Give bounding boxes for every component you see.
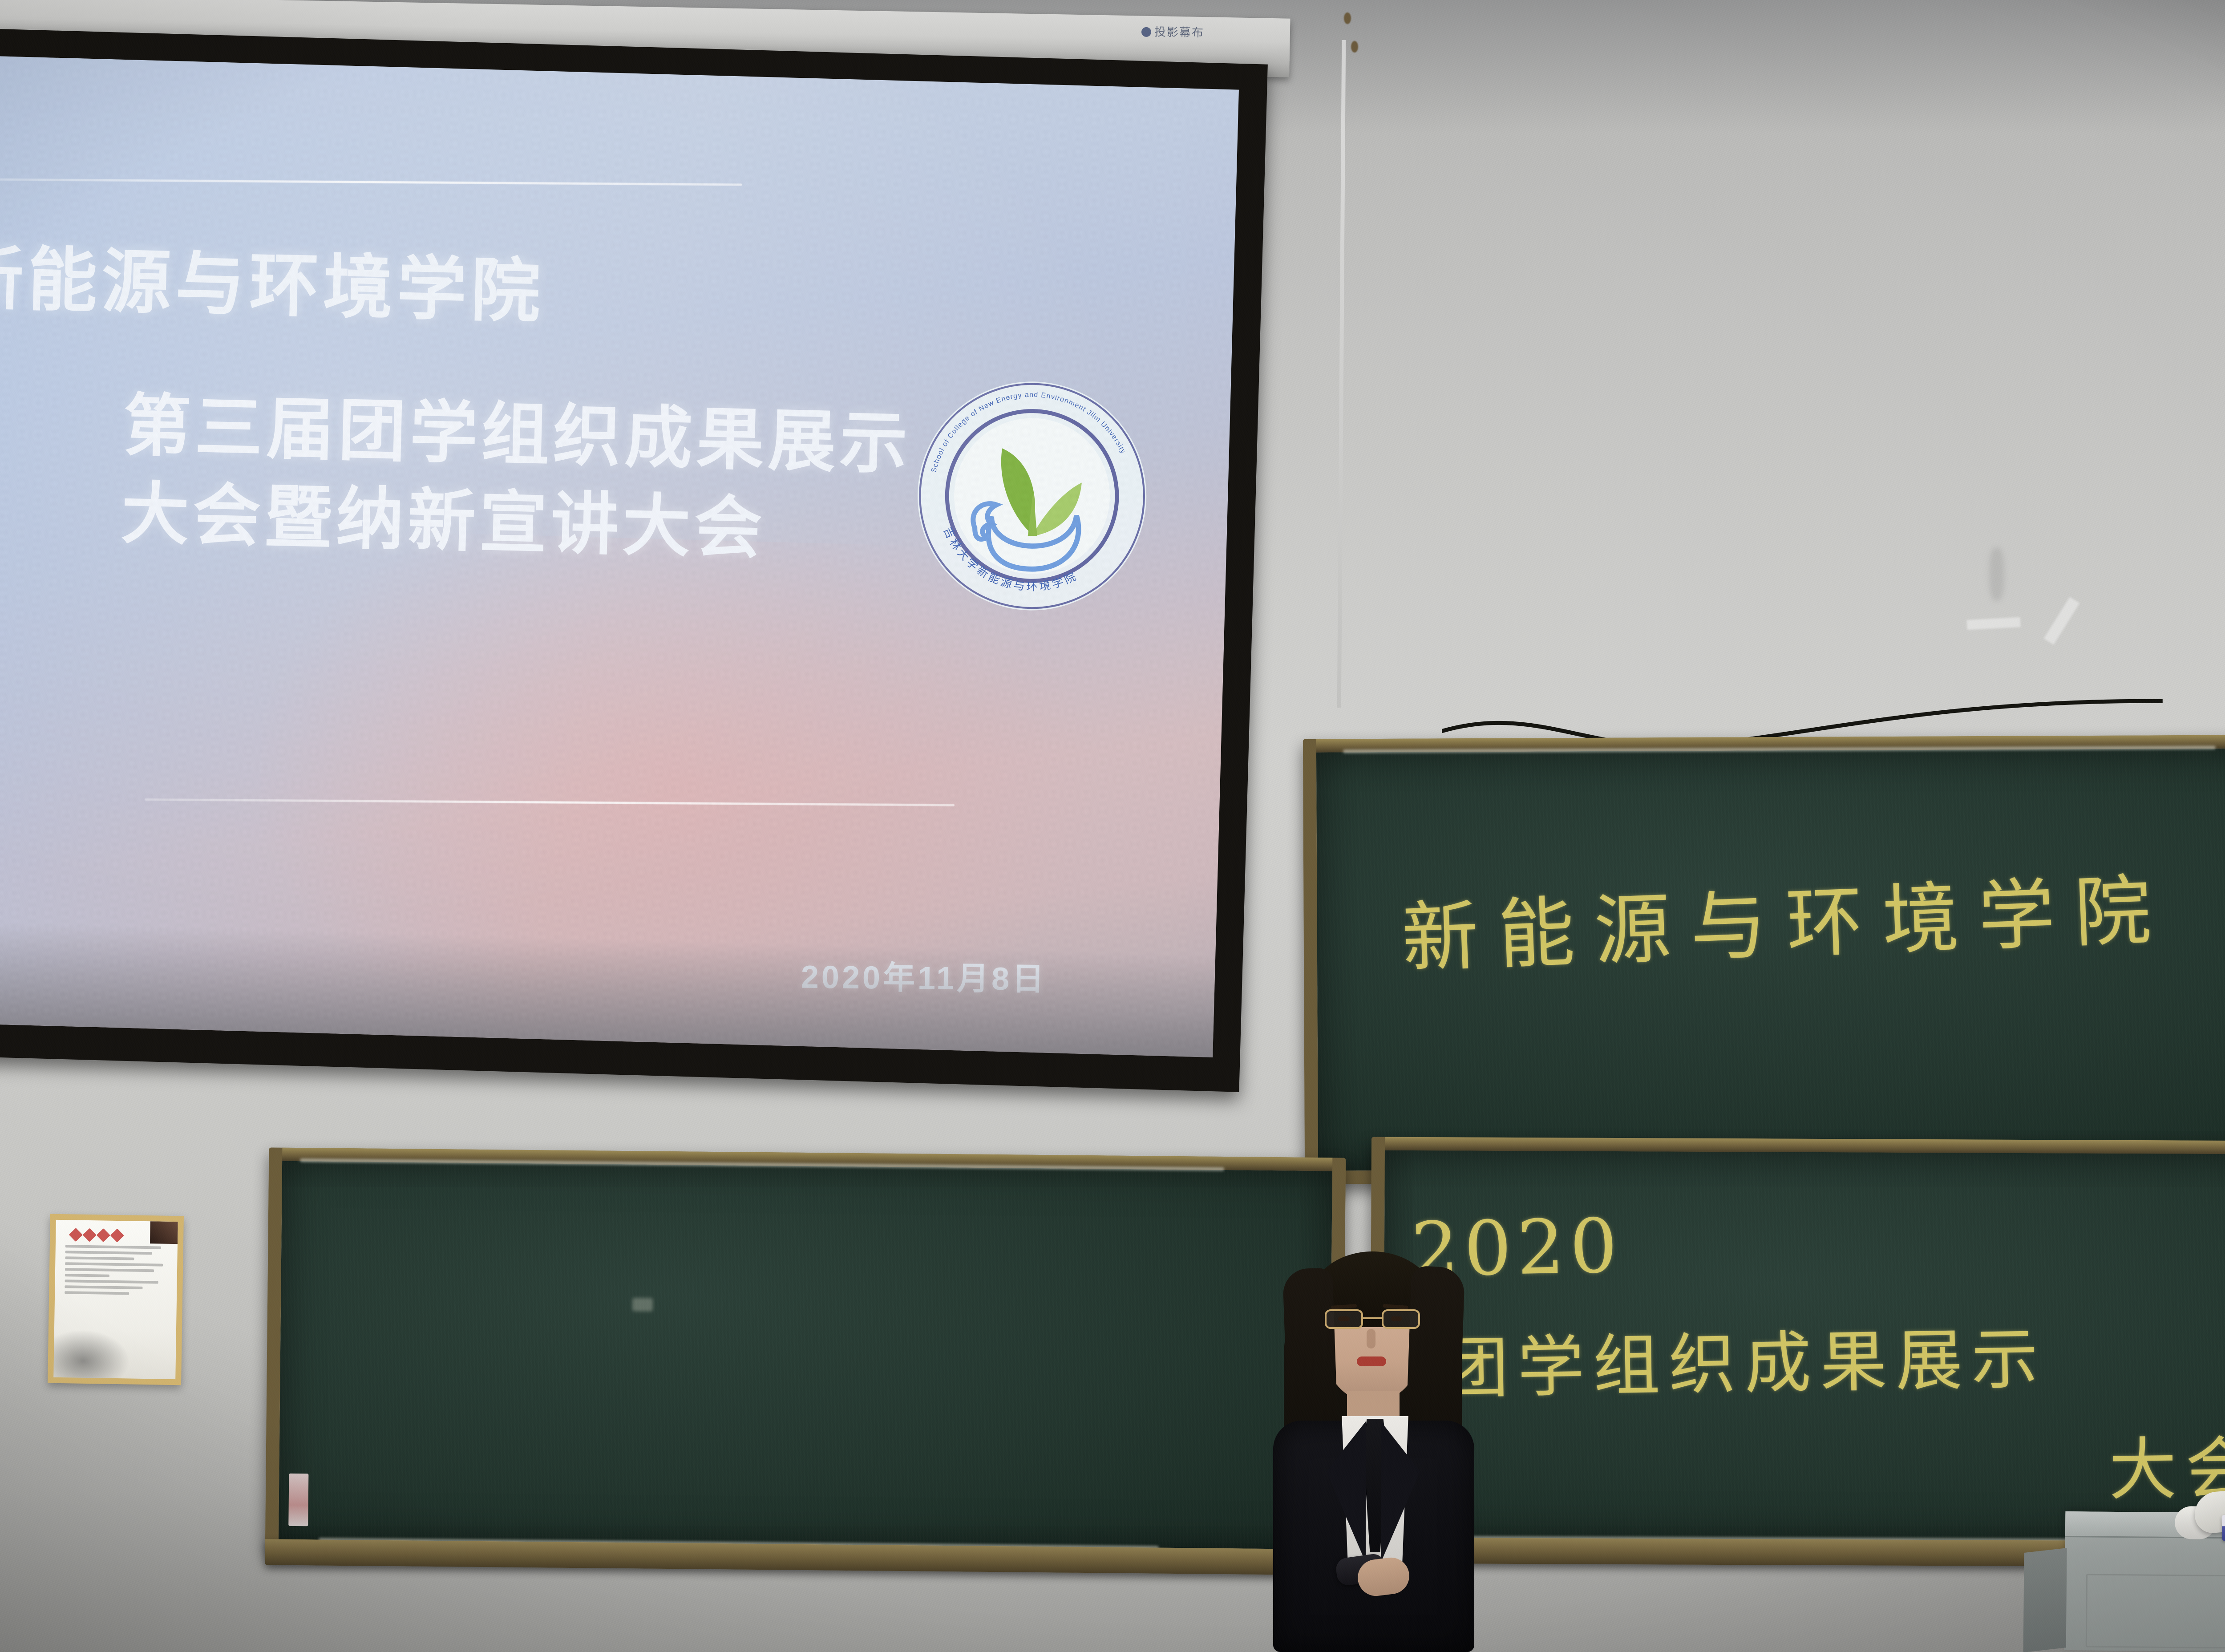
poster-diamond-icon <box>69 1228 83 1242</box>
upper-right-blackboard: 新能源与环境学院 <box>1303 734 2225 1184</box>
poster-text-line <box>65 1274 109 1277</box>
left-blackboard <box>265 1147 1346 1563</box>
glasses-bridge <box>1363 1317 1382 1319</box>
poster-text-line <box>65 1262 163 1266</box>
poster-diamond-icon <box>97 1228 110 1242</box>
presenter-eye-left <box>1338 1316 1350 1321</box>
poster-paper <box>53 1220 178 1379</box>
poster-stain <box>53 1328 132 1379</box>
wall-screw-2 <box>1351 41 1358 53</box>
presenter-nose <box>1367 1329 1375 1348</box>
chalk-eraser <box>2221 1514 2225 1541</box>
chalk-smudge <box>632 1298 653 1311</box>
poster-text-line <box>65 1285 142 1289</box>
blackboard-texture <box>279 1161 1332 1550</box>
presenter-eye-right <box>1391 1316 1402 1321</box>
slide-title-line-1: 第三届团学组织成果展示 <box>122 388 912 482</box>
poster-text-line <box>65 1268 154 1272</box>
projected-slide: 新能源与环境学院 School of College of New Energy… <box>0 56 1239 1057</box>
poster-text-line <box>65 1251 152 1255</box>
slide-organization-title: 新能源与环境学院 <box>0 221 845 343</box>
blackboard-sticker <box>288 1474 308 1526</box>
projector-screen-brand-label: 投影幕布 <box>1141 23 1205 40</box>
poster-diamond-icon <box>83 1228 97 1242</box>
podium-front-panel <box>2086 1574 2225 1650</box>
poster-diamond-icon <box>110 1228 124 1242</box>
classroom-photo-scene: 投影幕布 新能源与环境学院 School of College of New E <box>0 0 2225 1652</box>
poster-text-line <box>65 1291 129 1295</box>
chalk-text-event-line-1: 团学组织成果展示 <box>1441 1305 2047 1412</box>
wall-screw-1 <box>1344 12 1351 24</box>
poster-torn-corner <box>150 1221 178 1244</box>
teacher-console-podium <box>2064 1511 2225 1652</box>
presenter-mouth <box>1357 1356 1386 1366</box>
podium-side-panel <box>2023 1548 2067 1652</box>
poster-text-line <box>65 1256 134 1260</box>
classroom-rules-poster <box>48 1214 184 1385</box>
brand-dot-icon <box>1141 27 1151 37</box>
poster-text-line <box>65 1279 158 1284</box>
presenter-person <box>1230 1242 1506 1652</box>
poster-text-line <box>65 1245 161 1249</box>
slide-main-title: 第三届团学组织成果展示 大会暨纳新宣讲大会 <box>120 382 1112 581</box>
